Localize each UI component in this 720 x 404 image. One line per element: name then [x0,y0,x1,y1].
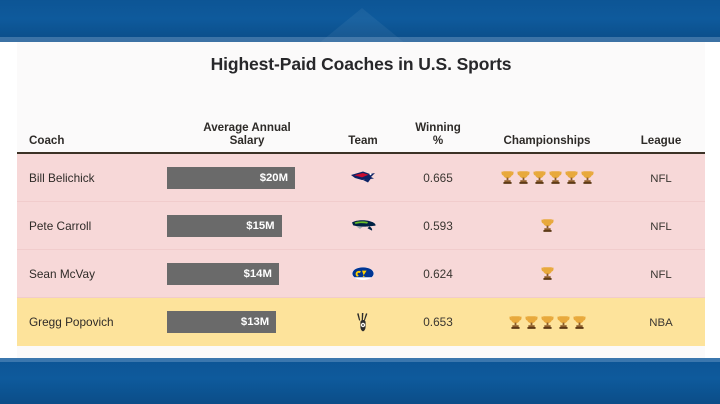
column-header-winning: Winning % [399,121,477,148]
screenshot-root: Highest-Paid Coaches in U.S. Sports Coac… [0,0,720,404]
winning-pct-value: 0.593 [423,219,453,233]
table-row[interactable]: Sean McVay$14M0.624NFL [17,250,705,298]
cell-championships [477,315,617,330]
winning-pct-value: 0.624 [423,267,453,281]
salary-bar-track: $20M [167,167,327,189]
column-header-league: League [617,134,705,148]
column-header-team: Team [327,134,399,148]
cell-team [327,312,399,332]
league-value: NFL [650,173,672,185]
cell-coach: Pete Carroll [17,217,167,235]
salary-bar-label: $20M [260,172,288,184]
trophy-icon [565,170,578,185]
column-header-salary-line2: Salary [167,134,327,148]
coaches-table: Coach Average Annual Salary Team Winning… [17,104,705,346]
trophy-group [477,266,617,281]
trophy-icon [517,170,530,185]
cell-coach: Bill Belichick [17,169,167,187]
patriots-logo-icon [350,169,376,185]
column-header-salary-line1: Average Annual [167,121,327,135]
cell-league: NBA [617,313,705,331]
table-header-row: Coach Average Annual Salary Team Winning… [17,104,705,154]
trophy-group [477,218,617,233]
league-value: NBA [649,317,672,329]
cell-salary: $14M [167,263,327,285]
column-header-winning-line1: Winning [399,121,477,135]
cell-coach: Sean McVay [17,265,167,283]
salary-bar: $13M [167,311,276,333]
trophy-icon [541,218,554,233]
cell-championships [477,170,617,185]
table-row[interactable]: Pete Carroll$15M0.593NFL [17,202,705,250]
cell-salary: $15M [167,215,327,237]
cell-league: NFL [617,169,705,187]
spurs-logo-icon [354,312,372,332]
cell-salary: $20M [167,167,327,189]
cell-winning-pct: 0.593 [399,217,477,235]
column-header-salary: Average Annual Salary [167,121,327,148]
salary-bar-track: $15M [167,215,327,237]
salary-bar-track: $14M [167,263,327,285]
trophy-icon [525,315,538,330]
column-header-championships: Championships [477,134,617,148]
bottom-blue-band [0,358,720,404]
salary-bar-track: $13M [167,311,327,333]
triangle-watermark-icon [318,8,406,42]
league-value: NFL [650,269,672,281]
trophy-icon [541,315,554,330]
cell-team [327,217,399,235]
trophy-icon [573,315,586,330]
trophy-group [477,315,617,330]
trophy-group [477,170,617,185]
trophy-icon [501,170,514,185]
table-body: Bill Belichick$20M0.665NFLPete Carroll$1… [17,154,705,346]
salary-bar-label: $14M [244,268,272,280]
cell-coach: Gregg Popovich [17,313,167,331]
coach-name: Gregg Popovich [29,315,114,329]
cell-winning-pct: 0.624 [399,265,477,283]
cell-winning-pct: 0.665 [399,169,477,187]
cell-championships [477,266,617,281]
cell-league: NFL [617,265,705,283]
winning-pct-value: 0.653 [423,315,453,329]
column-header-winning-line2: % [399,134,477,148]
salary-bar: $14M [167,263,279,285]
rams-logo-icon [351,264,375,282]
cell-league: NFL [617,217,705,235]
salary-bar-label: $13M [241,316,269,328]
top-blue-band [0,0,720,42]
table-row[interactable]: Gregg Popovich$13M0.653NBA [17,298,705,346]
trophy-icon [533,170,546,185]
salary-bar: $15M [167,215,282,237]
page-title: Highest-Paid Coaches in U.S. Sports [17,54,705,75]
cell-winning-pct: 0.653 [399,313,477,331]
trophy-icon [557,315,570,330]
salary-bar-label: $15M [246,220,274,232]
cell-team [327,169,399,187]
coach-name: Sean McVay [29,267,95,281]
coach-name: Pete Carroll [29,219,91,233]
seahawks-logo-icon [350,217,377,233]
content-card: Highest-Paid Coaches in U.S. Sports Coac… [17,42,705,358]
coach-name: Bill Belichick [29,171,95,185]
cell-salary: $13M [167,311,327,333]
winning-pct-value: 0.665 [423,171,453,185]
trophy-icon [581,170,594,185]
column-header-coach: Coach [17,134,167,148]
league-value: NFL [650,221,672,233]
cell-championships [477,218,617,233]
trophy-icon [541,266,554,281]
cell-team [327,264,399,282]
salary-bar: $20M [167,167,295,189]
table-row[interactable]: Bill Belichick$20M0.665NFL [17,154,705,202]
trophy-icon [549,170,562,185]
trophy-icon [509,315,522,330]
